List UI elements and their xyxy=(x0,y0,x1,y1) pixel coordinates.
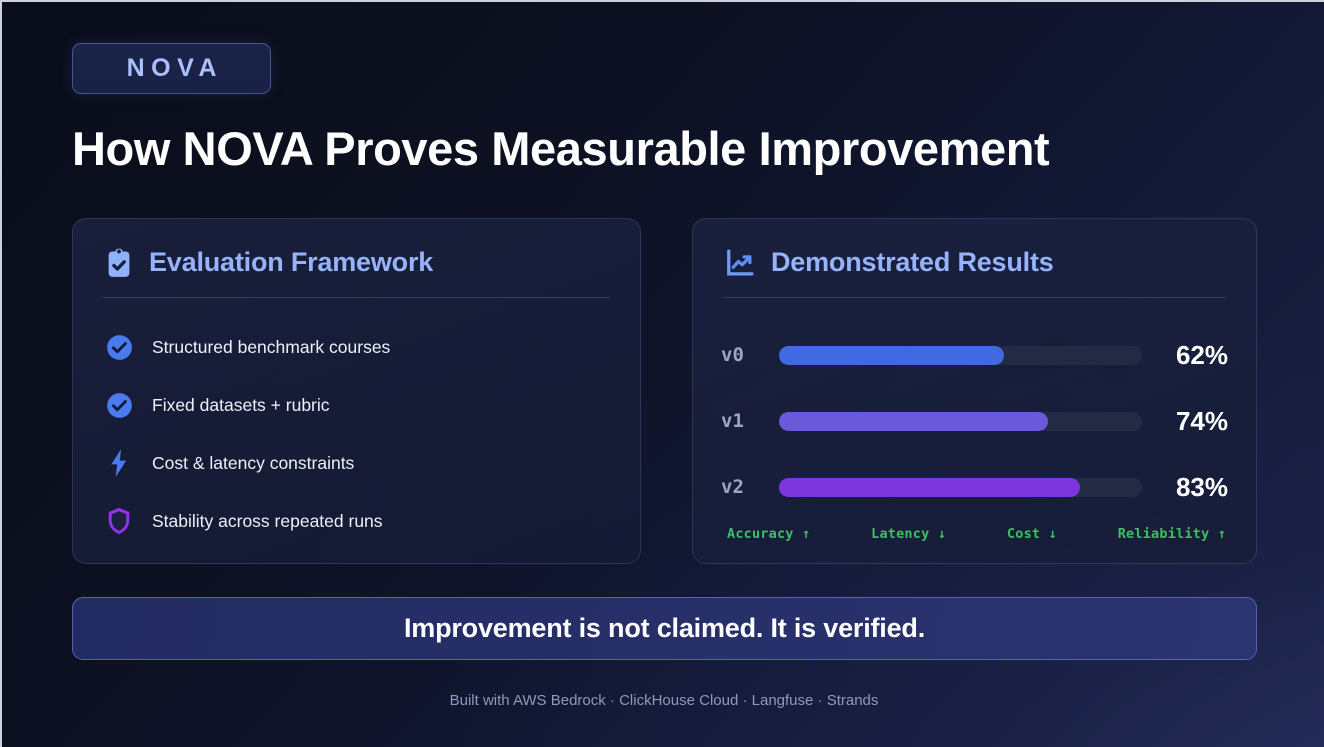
bar-label: v0 xyxy=(721,344,779,366)
bar-value: 83% xyxy=(1142,472,1228,503)
slide-root: NOVA How NOVA Proves Measurable Improvem… xyxy=(0,0,1324,747)
bar-fill xyxy=(779,346,1004,365)
bar-row-v2: v2 83% xyxy=(721,454,1228,520)
demonstrated-results-title: Demonstrated Results xyxy=(771,247,1054,278)
page-title: How NOVA Proves Measurable Improvement xyxy=(72,121,1049,176)
bar-row-v1: v1 74% xyxy=(721,388,1228,454)
evaluation-framework-header: Evaluation Framework xyxy=(73,219,640,278)
metrics-legend: Accuracy ↑ Latency ↓ Cost ↓ Reliability … xyxy=(693,520,1256,542)
list-item-label: Fixed datasets + rubric xyxy=(152,395,330,416)
metric-reliability: Reliability ↑ xyxy=(1118,526,1226,542)
bar-track xyxy=(779,346,1142,365)
chart-line-up-icon xyxy=(725,248,755,278)
evaluation-framework-card: Evaluation Framework Structured benchmar… xyxy=(72,218,641,564)
list-item-label: Cost & latency constraints xyxy=(152,453,354,474)
list-item: Structured benchmark courses xyxy=(105,318,608,376)
metric-accuracy: Accuracy ↑ xyxy=(727,526,810,542)
metric-latency: Latency ↓ xyxy=(871,526,946,542)
bar-fill xyxy=(779,478,1080,497)
clipboard-check-icon xyxy=(105,248,133,278)
evaluation-feature-list: Structured benchmark courses Fixed datas… xyxy=(73,298,640,550)
demonstrated-results-card: Demonstrated Results v0 62% v1 74% v2 xyxy=(692,218,1257,564)
list-item: Fixed datasets + rubric xyxy=(105,376,608,434)
nova-badge: NOVA xyxy=(72,43,271,94)
footer-credits: Built with AWS Bedrock · ClickHouse Clou… xyxy=(2,692,1324,709)
bar-track xyxy=(779,412,1142,431)
list-item: Cost & latency constraints xyxy=(105,434,608,492)
list-item-label: Stability across repeated runs xyxy=(152,511,383,532)
nova-badge-label: NOVA xyxy=(120,54,223,83)
metric-cost: Cost ↓ xyxy=(1007,526,1057,542)
bar-row-v0: v0 62% xyxy=(721,322,1228,388)
check-circle-icon xyxy=(105,334,133,361)
bar-value: 62% xyxy=(1142,340,1228,371)
list-item-label: Structured benchmark courses xyxy=(152,337,390,358)
evaluation-framework-title: Evaluation Framework xyxy=(149,247,433,278)
verification-banner: Improvement is not claimed. It is verifi… xyxy=(72,597,1257,660)
list-item: Stability across repeated runs xyxy=(105,492,608,550)
bar-value: 74% xyxy=(1142,406,1228,437)
lightning-bolt-icon xyxy=(105,449,133,477)
bar-label: v1 xyxy=(721,410,779,432)
bar-track xyxy=(779,478,1142,497)
check-circle-icon xyxy=(105,392,133,419)
bar-label: v2 xyxy=(721,476,779,498)
verification-banner-text: Improvement is not claimed. It is verifi… xyxy=(404,613,925,644)
results-bar-chart: v0 62% v1 74% v2 83% xyxy=(693,298,1256,520)
shield-icon xyxy=(105,507,133,535)
bar-fill xyxy=(779,412,1048,431)
demonstrated-results-header: Demonstrated Results xyxy=(693,219,1256,278)
